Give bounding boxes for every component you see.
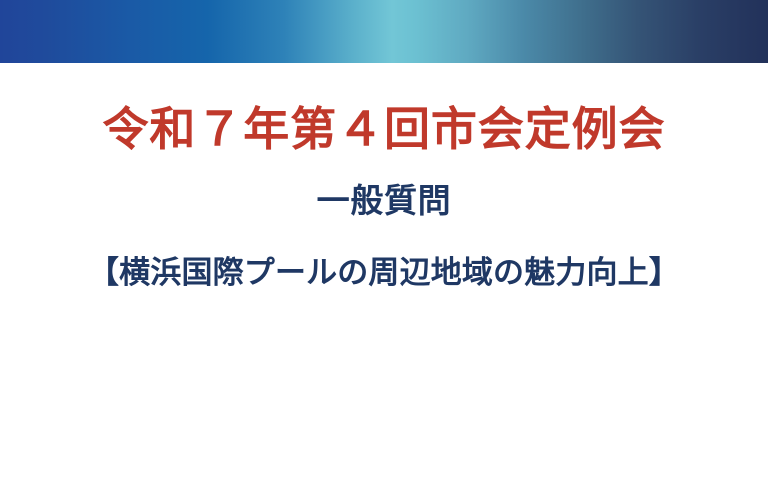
decorative-gradient-banner bbox=[0, 0, 768, 63]
page-title: 令和７年第４回市会定例会 bbox=[0, 103, 768, 156]
title-content-block: 令和７年第４回市会定例会 一般質問 【横浜国際プールの周辺地域の魅力向上】 bbox=[0, 63, 768, 480]
subtitle: 一般質問 bbox=[0, 182, 768, 220]
title-slide: 令和７年第４回市会定例会 一般質問 【横浜国際プールの周辺地域の魅力向上】 bbox=[0, 0, 768, 480]
theme-heading: 【横浜国際プールの周辺地域の魅力向上】 bbox=[0, 255, 768, 291]
